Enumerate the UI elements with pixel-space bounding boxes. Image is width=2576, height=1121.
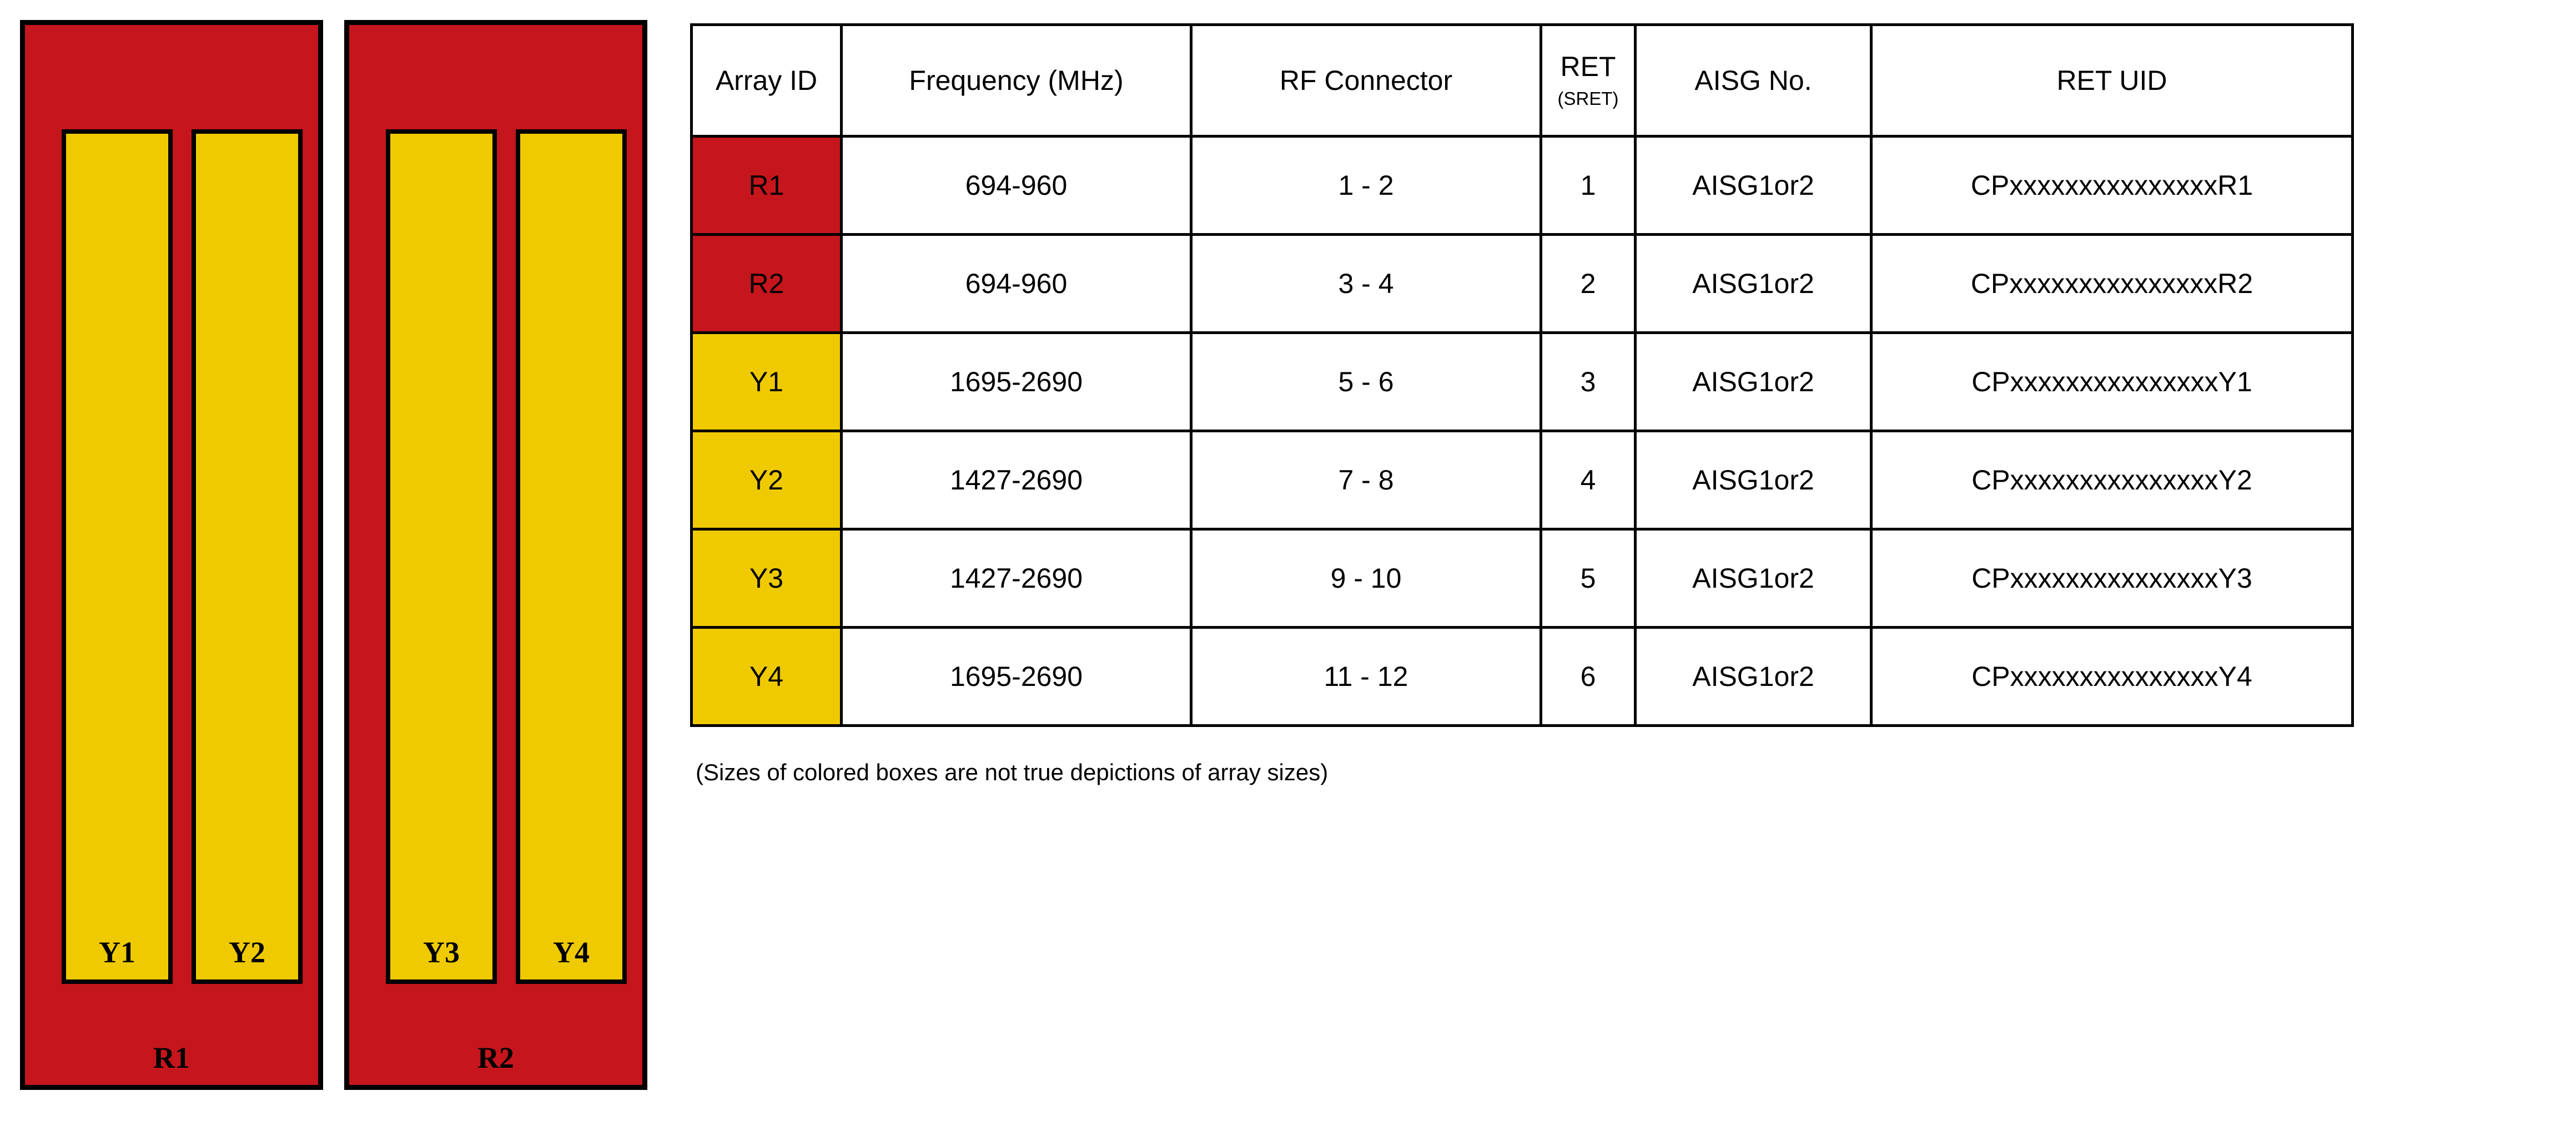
cell-ret: 4 — [1541, 431, 1636, 529]
column-header-ret-sub: (SRET) — [1542, 89, 1634, 109]
table-header-row: Array ID Frequency (MHz) RF Connector RE… — [692, 25, 2353, 137]
cell-frequency: 1427-2690 — [842, 431, 1191, 529]
subarray-y2: Y2 — [192, 129, 303, 984]
cell-ret: 1 — [1541, 137, 1636, 235]
cell-frequency: 694-960 — [842, 137, 1191, 235]
cell-aisg-no: AISG1or2 — [1636, 628, 1871, 726]
subarray-y3: Y3 — [386, 129, 497, 984]
cell-ret-uid: CPxxxxxxxxxxxxxxxY1 — [1871, 333, 2353, 431]
cell-array-id: Y1 — [692, 333, 842, 431]
cell-rf-connector: 7 - 8 — [1191, 431, 1541, 529]
cell-ret: 5 — [1541, 529, 1636, 628]
subarray-y4-label: Y4 — [520, 937, 622, 967]
cell-frequency: 1427-2690 — [842, 529, 1191, 628]
subarray-y2-label: Y2 — [196, 937, 298, 967]
cell-array-id: Y3 — [692, 529, 842, 628]
table-body: R1694-9601 - 21AISG1or2CPxxxxxxxxxxxxxxx… — [692, 137, 2353, 726]
table-header: Array ID Frequency (MHz) RF Connector RE… — [692, 25, 2353, 137]
cell-rf-connector: 1 - 2 — [1191, 137, 1541, 235]
subarray-y1-label: Y1 — [66, 937, 168, 967]
subarray-y3-label: Y3 — [390, 937, 492, 967]
cell-ret: 2 — [1541, 235, 1636, 333]
cell-array-id: Y2 — [692, 431, 842, 529]
column-header-ret-uid: RET UID — [1871, 25, 2353, 137]
cell-ret-uid: CPxxxxxxxxxxxxxxxR1 — [1871, 137, 2353, 235]
cell-ret: 6 — [1541, 628, 1636, 726]
cell-rf-connector: 11 - 12 — [1191, 628, 1541, 726]
cell-frequency: 1695-2690 — [842, 333, 1191, 431]
cell-rf-connector: 3 - 4 — [1191, 235, 1541, 333]
cell-ret: 3 — [1541, 333, 1636, 431]
radome-r1: Y1 Y2 R1 — [20, 20, 323, 1090]
cell-aisg-no: AISG1or2 — [1636, 235, 1871, 333]
ret-configuration-table-container: Array ID Frequency (MHz) RF Connector RE… — [690, 23, 2351, 727]
column-header-ret-main: RET — [1542, 52, 1634, 82]
cell-array-id: R2 — [692, 235, 842, 333]
cell-array-id: Y4 — [692, 628, 842, 726]
cell-ret-uid: CPxxxxxxxxxxxxxxxY2 — [1871, 431, 2353, 529]
cell-rf-connector: 9 - 10 — [1191, 529, 1541, 628]
column-header-rf-connector: RF Connector — [1191, 25, 1541, 137]
column-header-frequency: Frequency (MHz) — [842, 25, 1191, 137]
subarray-y4: Y4 — [516, 129, 627, 984]
antenna-array-diagram: Y1 Y2 R1 Y3 Y4 R2 — [0, 0, 666, 1121]
subarray-y1: Y1 — [62, 129, 173, 984]
table-row: Y11695-26905 - 63AISG1or2CPxxxxxxxxxxxxx… — [692, 333, 2353, 431]
cell-ret-uid: CPxxxxxxxxxxxxxxxR2 — [1871, 235, 2353, 333]
cell-frequency: 694-960 — [842, 235, 1191, 333]
radome-r2: Y3 Y4 R2 — [344, 20, 647, 1090]
table-row: Y31427-26909 - 105AISG1or2CPxxxxxxxxxxxx… — [692, 529, 2353, 628]
radome-r1-label: R1 — [25, 1043, 318, 1073]
table-row: Y41695-269011 - 126AISG1or2CPxxxxxxxxxxx… — [692, 628, 2353, 726]
cell-aisg-no: AISG1or2 — [1636, 431, 1871, 529]
cell-aisg-no: AISG1or2 — [1636, 529, 1871, 628]
diagram-footnote: (Sizes of colored boxes are not true dep… — [696, 759, 1328, 786]
ret-configuration-table: Array ID Frequency (MHz) RF Connector RE… — [690, 23, 2354, 727]
cell-aisg-no: AISG1or2 — [1636, 137, 1871, 235]
cell-ret-uid: CPxxxxxxxxxxxxxxxY3 — [1871, 529, 2353, 628]
table-row: Y21427-26907 - 84AISG1or2CPxxxxxxxxxxxxx… — [692, 431, 2353, 529]
cell-ret-uid: CPxxxxxxxxxxxxxxxY4 — [1871, 628, 2353, 726]
column-header-array-id: Array ID — [692, 25, 842, 137]
cell-rf-connector: 5 - 6 — [1191, 333, 1541, 431]
column-header-aisg-no: AISG No. — [1636, 25, 1871, 137]
cell-array-id: R1 — [692, 137, 842, 235]
cell-frequency: 1695-2690 — [842, 628, 1191, 726]
cell-aisg-no: AISG1or2 — [1636, 333, 1871, 431]
column-header-ret: RET (SRET) — [1541, 25, 1636, 137]
table-row: R1694-9601 - 21AISG1or2CPxxxxxxxxxxxxxxx… — [692, 137, 2353, 235]
radome-r2-label: R2 — [349, 1043, 642, 1073]
table-row: R2694-9603 - 42AISG1or2CPxxxxxxxxxxxxxxx… — [692, 235, 2353, 333]
